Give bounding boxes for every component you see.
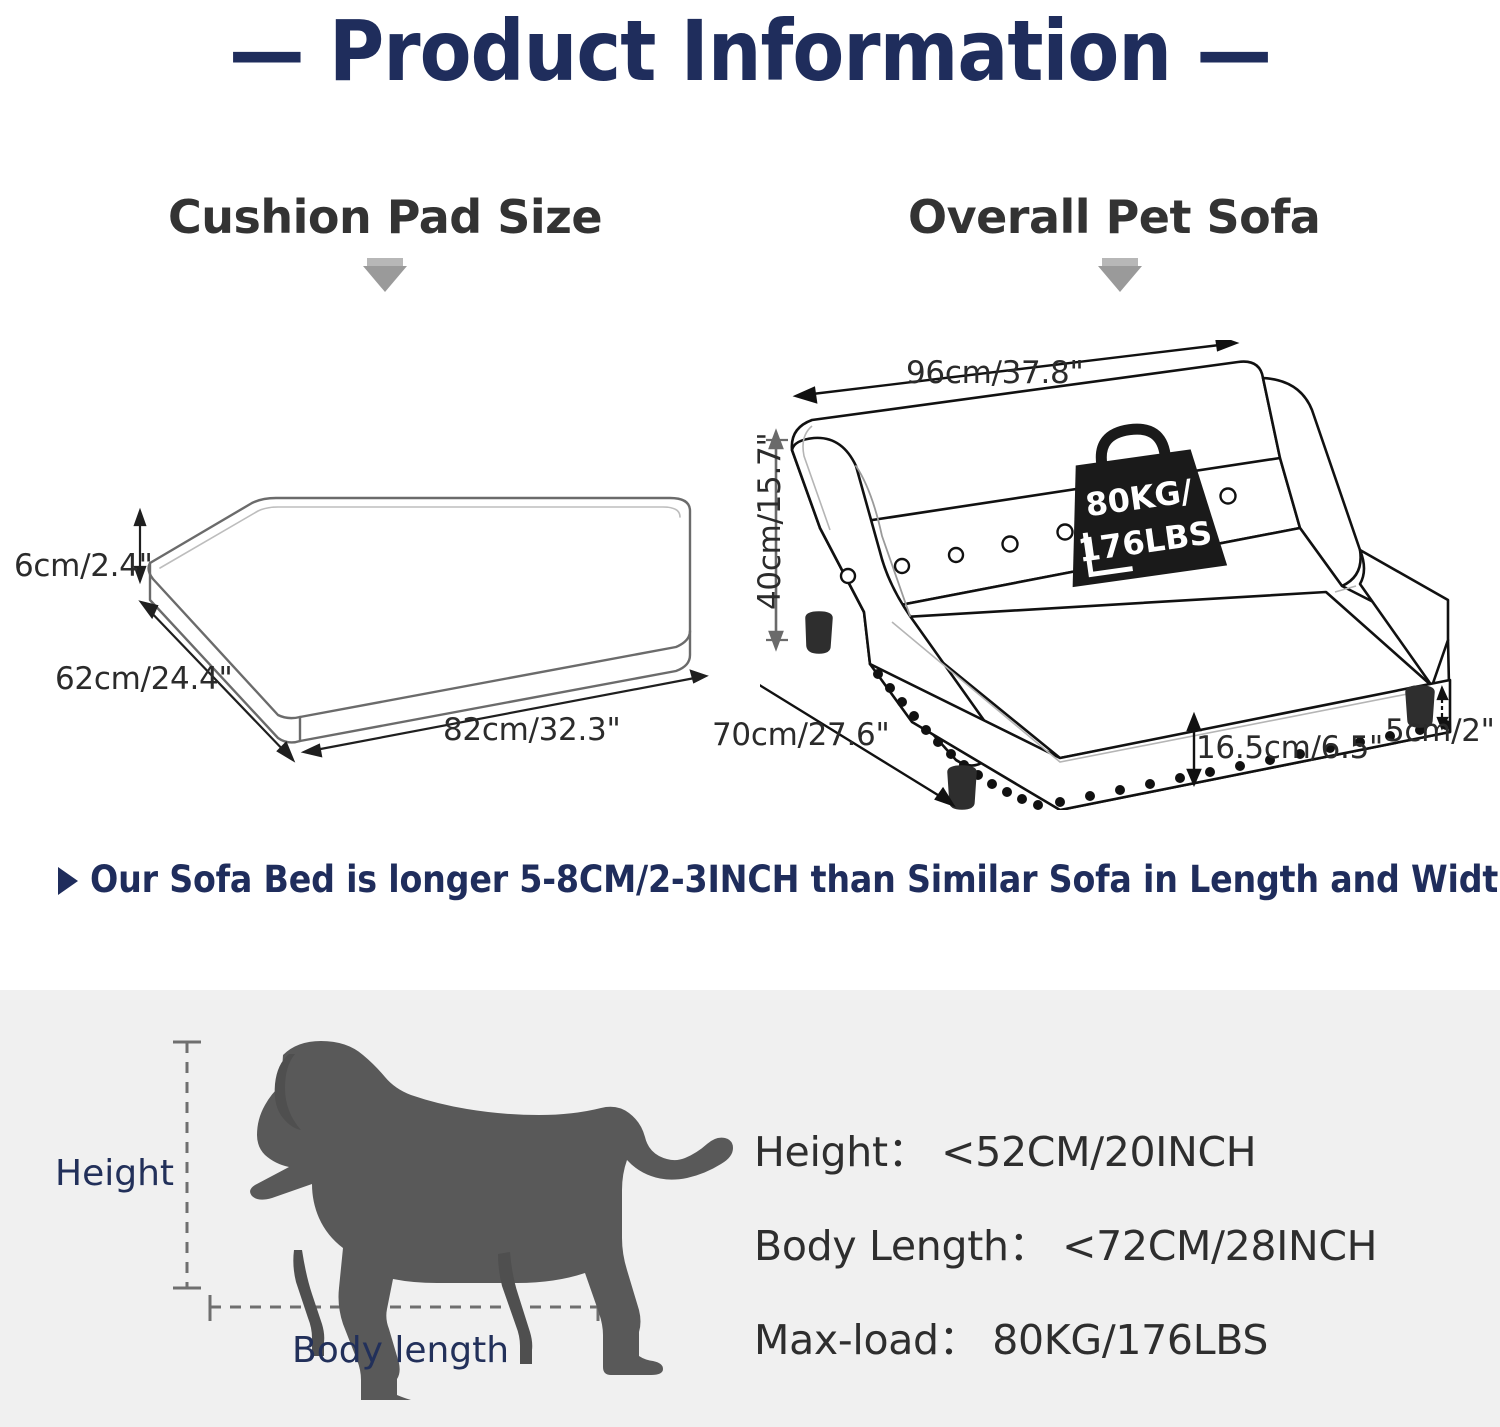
- top-section: — Product Information — Cushion Pad Size…: [0, 0, 1500, 990]
- dog-body-length-label: Body length: [292, 1330, 509, 1371]
- chevron-down-icon: [363, 258, 407, 292]
- cushion-width-label: 82cm/32.3": [443, 712, 620, 748]
- product-information-infographic: — Product Information — Cushion Pad Size…: [0, 0, 1500, 1427]
- spec-height: Height： <52CM/20INCH: [754, 1118, 1454, 1178]
- overall-pet-sofa-header: Overall Pet Sofa: [908, 190, 1320, 244]
- callout-text: Our Sofa Bed is longer 5-8CM/2-3INCH tha…: [90, 858, 1500, 901]
- cushion-pad-header: Cushion Pad Size: [168, 190, 602, 244]
- sofa-height-label: 40cm/15.7": [752, 433, 788, 610]
- cushion-depth-label: 62cm/24.4": [55, 661, 232, 697]
- chevron-down-icon: [1098, 258, 1142, 292]
- sofa-width-label: 96cm/37.8": [906, 355, 1083, 391]
- spec-max-load: Max-load： 80KG/176LBS: [754, 1306, 1454, 1366]
- spec-body-length: Body Length： <72CM/28INCH: [754, 1212, 1454, 1272]
- callout-banner: Our Sofa Bed is longer 5-8CM/2-3INCH tha…: [58, 858, 1458, 901]
- page-title: — Product Information —: [0, 2, 1500, 100]
- sofa-leg-height-label: 5cm/2": [1385, 713, 1495, 749]
- sofa-seat-height-label: 16.5cm/6.5": [1196, 730, 1383, 766]
- triangle-right-icon: [58, 867, 78, 895]
- cushion-thickness-label: 6cm/2.4": [14, 548, 153, 584]
- dog-spec-list: Height： <52CM/20INCH Body Length： <72CM/…: [754, 1118, 1454, 1400]
- sofa-depth-label: 70cm/27.6": [712, 717, 889, 753]
- dog-height-label: Height: [55, 1153, 174, 1194]
